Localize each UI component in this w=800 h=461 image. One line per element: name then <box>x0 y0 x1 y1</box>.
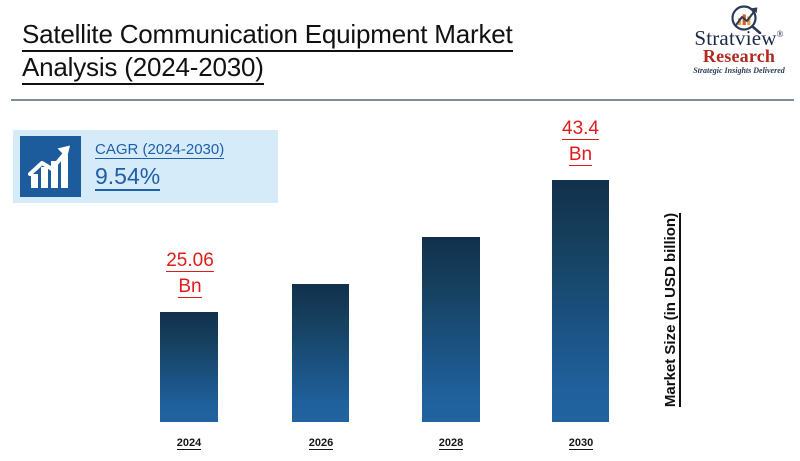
page-title-line-2: Analysis (2024-2030) <box>22 52 264 85</box>
bar-value-label-2024-line2: Bn <box>178 276 201 298</box>
header: Satellite Communication Equipment Market… <box>0 0 800 101</box>
bar-2026 <box>292 284 349 422</box>
bar-fill <box>292 284 349 422</box>
logo-wordmark-secondary: Research <box>683 46 795 67</box>
x-tick-2024: 2024 <box>149 437 229 449</box>
x-tick-2030-text: 2030 <box>569 437 593 450</box>
stratview-research-logo: Stratview® Research Strategic Insights D… <box>683 4 795 76</box>
bar-value-label-2024: 25.06 Bn <box>135 248 245 300</box>
bar-2028 <box>422 237 480 422</box>
page-title: Satellite Communication Equipment Market… <box>22 18 632 84</box>
bar-2030 <box>552 180 609 422</box>
y-axis-title-text: Market Size (in USD billion) <box>662 213 681 407</box>
bar-fill <box>422 237 480 422</box>
bar-value-label-2030: 43.4 Bn <box>528 116 633 168</box>
x-tick-2026: 2026 <box>281 437 361 449</box>
bar-value-label-2030-line1: 43.4 <box>562 118 599 140</box>
x-tick-2030: 2030 <box>541 437 621 449</box>
bar-value-label-2024-line1: 25.06 <box>166 250 214 272</box>
logo-tagline: Strategic Insights Delivered <box>683 66 795 75</box>
x-tick-2026-text: 2026 <box>309 437 333 450</box>
bar-fill <box>160 312 218 422</box>
bar-value-label-2030-line2: Bn <box>569 144 592 166</box>
bar-fill <box>552 180 609 422</box>
registered-trademark-icon: ® <box>777 29 784 39</box>
bar-2024 <box>160 312 218 422</box>
y-axis-title: Market Size (in USD billion) <box>660 180 690 440</box>
page-title-line-1: Satellite Communication Equipment Market <box>22 19 513 52</box>
x-tick-2028-text: 2028 <box>439 437 463 450</box>
x-tick-2024-text: 2024 <box>177 437 201 450</box>
x-tick-2028: 2028 <box>411 437 491 449</box>
